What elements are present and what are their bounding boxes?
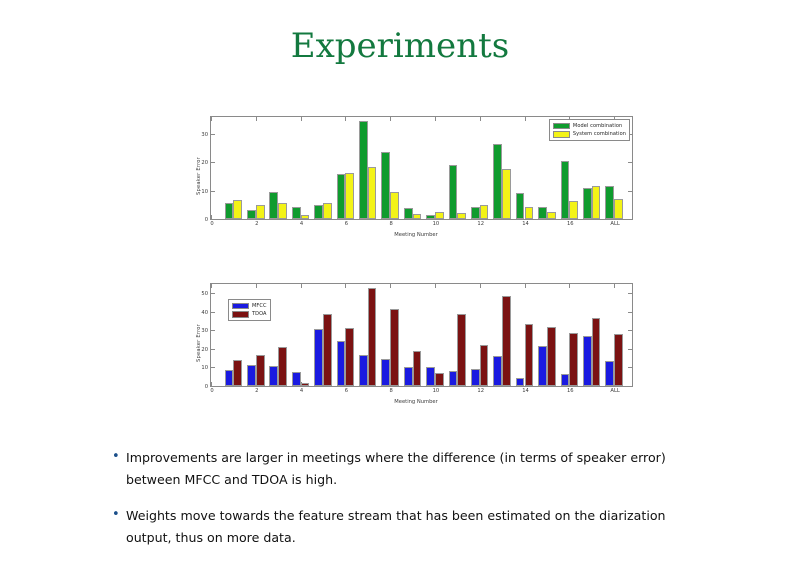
legend-label: MFCC [252,303,267,309]
bar [471,207,480,219]
bar [256,355,265,386]
x-tick-top [345,284,346,288]
bar [449,371,458,386]
legend-swatch [553,123,570,130]
y-tick-label: 30 [201,132,208,138]
x-tick-top [525,117,526,121]
y-tick-label: 30 [201,328,208,334]
bar [502,296,511,386]
x-tick-top [345,117,346,121]
legend-swatch [232,311,249,318]
x-tick-top [211,117,212,121]
bar [359,121,368,219]
y-tick-label: 50 [201,291,208,297]
x-tick-label: 16 [567,388,574,394]
bar [413,351,422,386]
bar [561,374,570,386]
figure-features-chart: Speaker Error 010203040500246810121416AL… [186,277,646,409]
y-tick-label: 20 [201,347,208,353]
bar [247,365,256,386]
bullet-marker-icon: • [112,447,126,467]
x-tick-top [569,284,570,288]
x-tick-top [211,284,212,288]
x-tick-label: 4 [300,221,303,227]
x-tick: 0 [211,215,212,219]
bar [525,207,534,219]
y-tick: 10 [211,367,215,368]
x-tick-label: 16 [567,221,574,227]
bar [480,205,489,219]
x-tick-top [435,117,436,121]
bar [301,215,310,219]
x-tick-top [480,117,481,121]
y-tick: 20 [211,162,215,163]
legend-item: Model combination [553,123,626,130]
x-tick-label: 12 [477,388,484,394]
bar [390,309,399,386]
y-tick: 30 [211,134,215,135]
bar [292,207,301,219]
x-tick: 0 [211,382,212,386]
x-tick-label: 6 [345,388,348,394]
bar [449,165,458,219]
y-tick-right [628,293,632,294]
bar [426,215,435,219]
legend-item: TDOA [232,311,267,318]
bar [605,361,614,386]
figure-combination-chart: Speaker Error 01020300246810121416ALL Me… [186,110,646,242]
bar [592,318,601,386]
list-item: • Weights move towards the feature strea… [112,505,712,549]
y-tick: 20 [211,349,215,350]
x-tick-label: 2 [255,221,258,227]
bar [480,345,489,386]
legend-2: MFCCTDOA [228,299,271,321]
bar [292,372,301,386]
bullet-list: • Improvements are larger in meetings wh… [112,447,712,563]
bar [547,327,556,386]
bar [323,203,332,219]
bar [493,356,502,386]
bar [381,359,390,386]
x-tick-top [435,284,436,288]
x-tick-label: 0 [210,388,213,394]
bar [493,144,502,219]
bar [247,210,256,219]
y-tick-right [628,349,632,350]
bar [278,203,287,219]
x-tick-label: 8 [389,388,392,394]
bar [323,314,332,386]
bar [337,341,346,386]
legend-label: Model combination [573,123,622,129]
bar [256,205,265,219]
bar [516,378,525,386]
y-tick-right [628,219,632,220]
bar [225,203,234,219]
y-tick: 0 [211,386,215,387]
x-tick-label: ALL [610,221,619,227]
bar [457,314,466,386]
y-tick-label: 20 [201,160,208,166]
y-tick-right [628,191,632,192]
y-tick-label: 10 [201,365,208,371]
bar [525,324,534,386]
bar [592,186,601,219]
bar [538,207,547,219]
y-tick: 40 [211,312,215,313]
legend-item: System combination [553,131,626,138]
x-tick-label: 6 [345,221,348,227]
bullet-marker-icon: • [112,505,126,525]
bar [413,214,422,219]
page-title: Experiments [0,26,800,66]
y-tick-label: 0 [205,217,208,223]
x-tick-label: 2 [255,388,258,394]
x-tick-label: 10 [433,221,440,227]
x-tick-label: 12 [477,221,484,227]
bar [337,174,346,219]
bar [233,360,242,386]
x-tick-label: 10 [433,388,440,394]
bar [569,333,578,386]
bar [502,169,511,219]
plot-area-2: Speaker Error 010203040500246810121416AL… [186,277,646,409]
bullet-text: Weights move towards the feature stream … [126,505,712,549]
y-tick-right [628,386,632,387]
bar [435,373,444,386]
bar [269,366,278,386]
bar [381,152,390,219]
x-tick-label: 8 [389,221,392,227]
bar [435,212,444,219]
axes-frame-2: 010203040500246810121416ALL [210,283,633,387]
bar [359,355,368,386]
bar [269,192,278,219]
plot-area-1: Speaker Error 01020300246810121416ALL Me… [186,110,646,242]
bar [278,347,287,386]
bar [233,200,242,219]
bar [538,346,547,386]
legend-swatch [232,303,249,310]
bar [614,334,623,386]
y-tick-right [628,162,632,163]
bar [583,336,592,386]
y-tick-right [628,312,632,313]
y-tick: 30 [211,330,215,331]
bullet-text: Improvements are larger in meetings wher… [126,447,712,491]
x-tick-top [525,284,526,288]
bar [457,213,466,219]
x-tick-label: 14 [522,221,529,227]
bar [345,173,354,219]
bar [345,328,354,386]
legend-label: TDOA [252,311,267,317]
bar [547,212,556,219]
bar [561,161,570,219]
bar [368,167,377,219]
y-tick-right [628,367,632,368]
y-tick-label: 10 [201,189,208,195]
x-axis-label-2: Meeting Number [186,399,646,405]
bar [426,367,435,386]
legend-item: MFCC [232,303,267,310]
y-tick: 50 [211,293,215,294]
y-tick-label: 0 [205,384,208,390]
x-tick-top [301,284,302,288]
bar [314,205,323,219]
legend-1: Model combinationSystem combination [549,119,630,141]
x-tick-label: 0 [210,221,213,227]
bar [516,193,525,219]
y-tick-right [628,330,632,331]
x-tick-top [256,117,257,121]
bar [368,288,377,386]
x-tick-top [390,284,391,288]
x-tick-top [301,117,302,121]
legend-label: System combination [573,131,626,137]
x-tick-top [390,117,391,121]
bar [404,367,413,386]
y-tick: 0 [211,219,215,220]
bar [314,329,323,386]
y-tick-label: 40 [201,310,208,316]
x-tick-top [614,284,615,288]
bar [390,192,399,219]
x-tick-label: 4 [300,388,303,394]
bar [471,369,480,386]
x-tick-top [256,284,257,288]
bar [605,186,614,219]
bar [614,199,623,219]
list-item: • Improvements are larger in meetings wh… [112,447,712,491]
bar [225,370,234,386]
bar [569,201,578,219]
x-tick-label: ALL [610,388,619,394]
bar [404,208,413,219]
x-axis-label-1: Meeting Number [186,232,646,238]
x-tick-label: 14 [522,388,529,394]
legend-swatch [553,131,570,138]
x-tick-top [480,284,481,288]
bar [301,383,310,386]
bar [583,188,592,219]
y-tick: 10 [211,191,215,192]
